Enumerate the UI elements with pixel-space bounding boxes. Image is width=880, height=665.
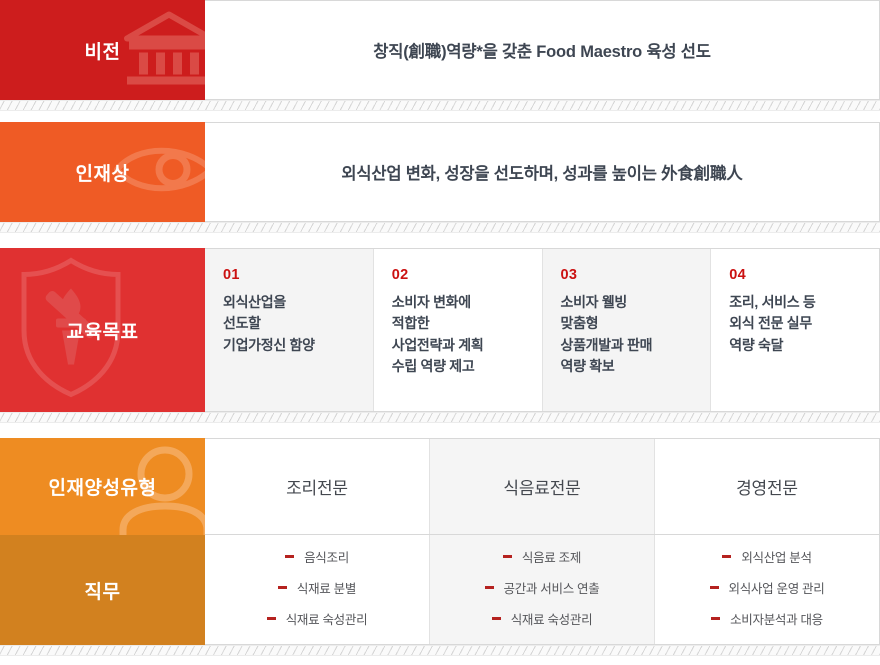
duties-label-cell: 직무	[0, 535, 205, 645]
talent-types-content-cell: 조리전문 식음료전문 경영전문	[205, 438, 880, 535]
type-name: 경영전문	[736, 474, 798, 499]
duty-text: 소비자분석과 대응	[730, 609, 823, 628]
dash-bullet-icon	[503, 555, 512, 558]
type-column-management: 경영전문	[655, 439, 879, 534]
goal-text: 외식산업을 선도할 기업가정신 함양	[223, 292, 359, 356]
duties-content-cell: 음식조리 식재료 분별 식재료 숙성관리 식음료 조제 공간	[205, 535, 880, 645]
duty-text: 공간과 서비스 연출	[504, 578, 600, 597]
duty-item: 공간과 서비스 연출	[485, 578, 600, 597]
duty-column-cooking: 음식조리 식재료 분별 식재료 숙성관리	[205, 535, 430, 644]
duties-row: 직무 음식조리 식재료 분별 식재료 숙성관리	[0, 535, 880, 645]
talent-types-row: 인재양성유형 조리전문 식음료전문 경영전문	[0, 438, 880, 535]
vision-headline: 창직(創職)역량*을 갖춘 Food Maestro 육성 선도	[373, 38, 711, 62]
goal-item-03: 03 소비자 웰빙 맞춤형 상품개발과 판매 역량 확보	[543, 249, 712, 411]
duty-item: 식재료 숙성관리	[492, 609, 593, 628]
dash-bullet-icon	[285, 555, 294, 558]
duty-item: 음식조리	[285, 547, 349, 566]
talent-label-cell: 인재상	[0, 122, 205, 222]
duties-label: 직무	[85, 577, 121, 604]
duty-text: 외식사업 운영 관리	[729, 578, 825, 597]
dash-bullet-icon	[485, 586, 494, 589]
duty-item: 소비자분석과 대응	[711, 609, 823, 628]
vision-content-cell: 창직(創職)역량*을 갖춘 Food Maestro 육성 선도	[205, 0, 880, 100]
goal-number: 02	[392, 267, 528, 283]
type-column-cooking: 조리전문	[205, 439, 430, 534]
goals-label: 교육목표	[67, 317, 139, 344]
goal-text: 소비자 웰빙 맞춤형 상품개발과 판매 역량 확보	[561, 292, 697, 377]
duty-text: 식재료 숙성관리	[511, 609, 593, 628]
talent-headline: 외식산업 변화, 성장을 선도하며, 성과를 높이는 外食創職人	[341, 160, 742, 184]
type-column-beverage: 식음료전문	[430, 439, 655, 534]
goal-text: 소비자 변화에 적합한 사업전략과 계획 수립 역량 제고	[392, 292, 528, 377]
duty-text: 식음료 조제	[522, 547, 581, 566]
dash-bullet-icon	[722, 555, 731, 558]
goal-number: 03	[561, 267, 697, 283]
goals-content-cell: 01 외식산업을 선도할 기업가정신 함양 02 소비자 변화에 적합한 사업전…	[205, 248, 880, 412]
talent-types-label-cell: 인재양성유형	[0, 438, 205, 535]
duty-item: 외식사업 운영 관리	[710, 578, 825, 597]
duty-item: 외식산업 분석	[722, 547, 811, 566]
competency-framework-infographic: 비전 창직(創職)역량*을 갖춘 Food Maestro 육성 선도 인재상 …	[0, 0, 880, 665]
goal-text: 조리, 서비스 등 외식 전문 실무 역량 숙달	[729, 292, 865, 356]
duty-column-beverage: 식음료 조제 공간과 서비스 연출 식재료 숙성관리	[430, 535, 655, 644]
duty-text: 음식조리	[304, 547, 349, 566]
dash-bullet-icon	[278, 586, 287, 589]
duty-text: 식재료 분별	[297, 578, 356, 597]
separator-stripe-2	[0, 222, 880, 233]
duty-column-management: 외식산업 분석 외식사업 운영 관리 소비자분석과 대응	[655, 535, 879, 644]
talent-row: 인재상 외식산업 변화, 성장을 선도하며, 성과를 높이는 外食創職人	[0, 122, 880, 222]
vision-row: 비전 창직(創職)역량*을 갖춘 Food Maestro 육성 선도	[0, 0, 880, 100]
duty-item: 식재료 분별	[278, 578, 356, 597]
goal-number: 01	[223, 267, 359, 283]
separator-stripe-3	[0, 412, 880, 423]
goal-item-01: 01 외식산업을 선도할 기업가정신 함양	[205, 249, 374, 411]
vision-label-cell: 비전	[0, 0, 205, 100]
goal-item-04: 04 조리, 서비스 등 외식 전문 실무 역량 숙달	[711, 249, 879, 411]
talent-types-label: 인재양성유형	[49, 473, 157, 500]
type-name: 조리전문	[286, 474, 348, 499]
duty-text: 식재료 숙성관리	[286, 609, 368, 628]
dash-bullet-icon	[267, 617, 276, 620]
duty-text: 외식산업 분석	[741, 547, 811, 566]
separator-stripe-4	[0, 645, 880, 656]
separator-stripe-1	[0, 100, 880, 111]
vision-label: 비전	[85, 37, 121, 64]
goal-number: 04	[729, 267, 865, 283]
talent-content-cell: 외식산업 변화, 성장을 선도하며, 성과를 높이는 外食創職人	[205, 122, 880, 222]
goals-row: 교육목표 01 외식산업을 선도할 기업가정신 함양 02 소비자 변화에 적합…	[0, 248, 880, 412]
duty-item: 식재료 숙성관리	[267, 609, 368, 628]
duty-item: 식음료 조제	[503, 547, 581, 566]
talent-label: 인재상	[76, 159, 130, 186]
dash-bullet-icon	[492, 617, 501, 620]
dash-bullet-icon	[711, 617, 720, 620]
dash-bullet-icon	[710, 586, 719, 589]
goals-label-cell: 교육목표	[0, 248, 205, 412]
bank-building-icon	[121, 9, 205, 92]
goal-item-02: 02 소비자 변화에 적합한 사업전략과 계획 수립 역량 제고	[374, 249, 543, 411]
type-name: 식음료전문	[503, 474, 580, 499]
